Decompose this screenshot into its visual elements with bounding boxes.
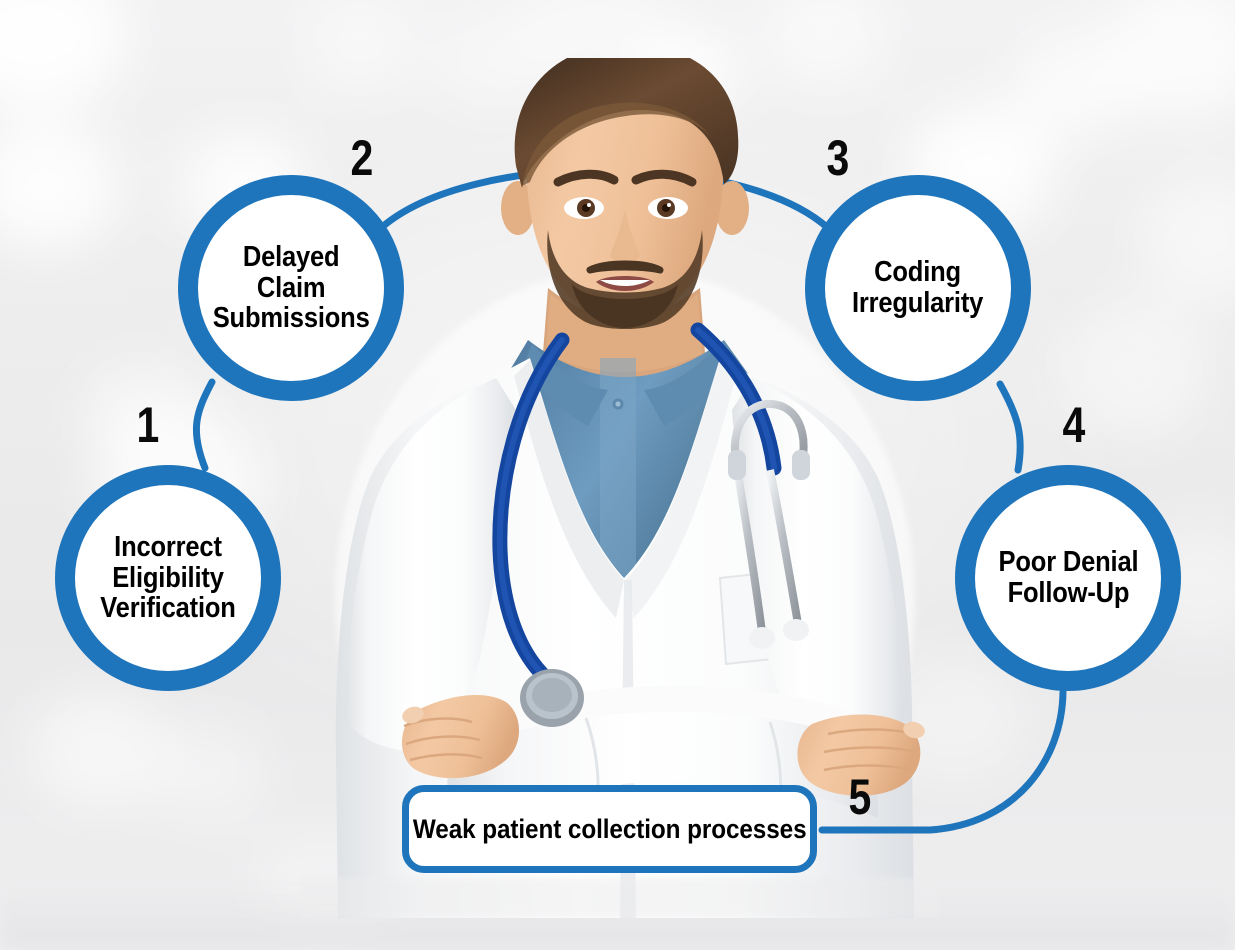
step-number-4: 4 <box>1063 400 1086 450</box>
node-coding-irregularity[interactable]: Coding Irregularity <box>805 175 1031 401</box>
node3-line1: Coding <box>875 256 962 288</box>
node1-line1: Incorrect <box>114 531 222 563</box>
link-1-to-2 <box>196 382 212 468</box>
node-poor-denial-follow-up[interactable]: Poor Denial Follow-Up <box>955 465 1181 691</box>
node-weak-patient-collection-processes[interactable]: Weak patient collection processes <box>402 785 817 873</box>
node5-label: Weak patient collection processes <box>413 814 807 845</box>
node-incorrect-eligibility-verification[interactable]: Incorrect Eligibility Verification <box>55 465 281 691</box>
node3-label: Coding Irregularity <box>852 257 983 318</box>
node3-line2: Irregularity <box>852 287 983 319</box>
step-number-5: 5 <box>849 772 872 822</box>
node-delayed-claim-submissions[interactable]: Delayed Claim Submissions <box>178 175 404 401</box>
step-number-2: 2 <box>351 133 374 183</box>
node4-line1: Poor Denial <box>998 546 1138 578</box>
infographic-canvas: .cl{fill:none;stroke:#1f75bc;stroke-widt… <box>0 0 1235 950</box>
node2-line1: Delayed <box>243 241 340 273</box>
node1-line3: Verification <box>100 592 235 624</box>
node2-line3: Submissions <box>213 302 370 334</box>
node2-line2: Claim <box>257 272 326 304</box>
node4-line2: Follow-Up <box>1007 577 1129 609</box>
node4-label: Poor Denial Follow-Up <box>998 547 1138 608</box>
node1-label: Incorrect Eligibility Verification <box>100 532 235 624</box>
step-number-1: 1 <box>137 400 160 450</box>
node2-label: Delayed Claim Submissions <box>213 242 370 334</box>
link-3-to-4 <box>1000 384 1020 470</box>
node1-line2: Eligibility <box>112 562 223 594</box>
step-number-3: 3 <box>827 133 850 183</box>
